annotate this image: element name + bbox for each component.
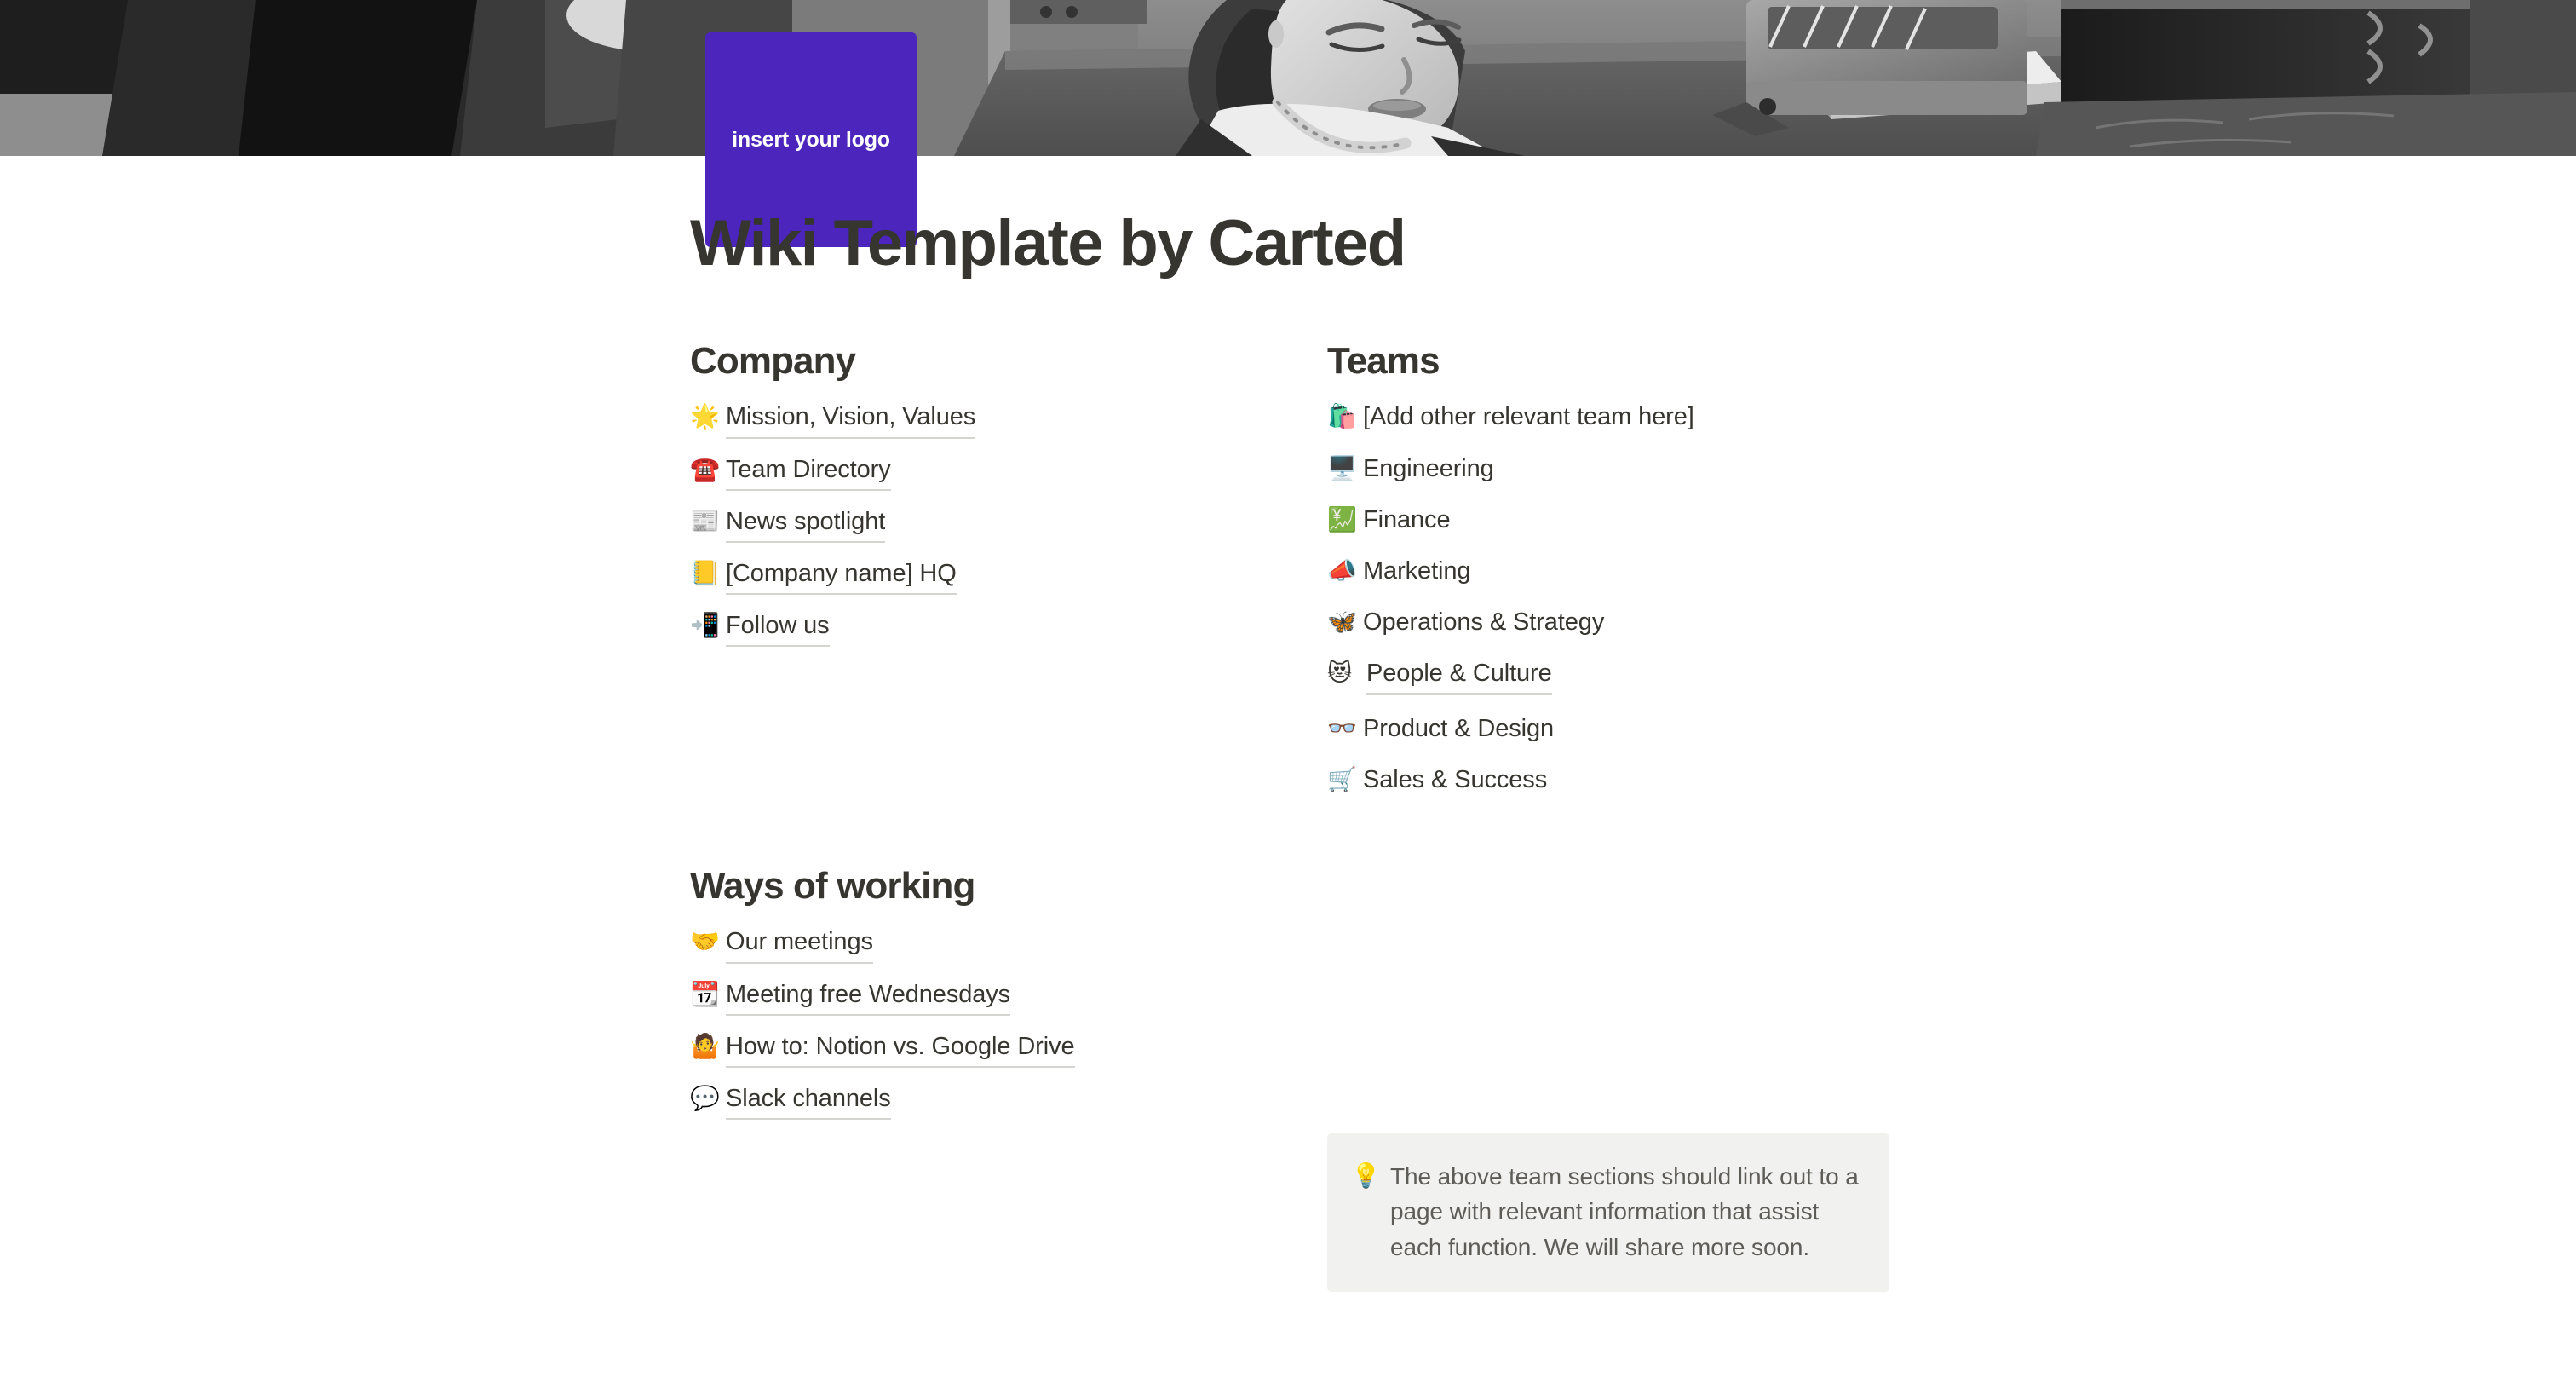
teams-item-engineering[interactable]: Engineering [1363,452,1494,486]
mobile-phone-with-arrow-icon: 📲 [690,611,726,640]
list-item[interactable]: ☎️ Team Directory [690,453,1286,491]
company-link-team-directory[interactable]: Team Directory [726,453,891,491]
teams-item-add-other-team[interactable]: [Add other relevant team here] [1363,401,1694,434]
company-link-list: 🌟 Mission, Vision, Values ☎️ Team Direct… [690,401,1286,647]
person-shrugging-icon: 🤷 [690,1032,726,1061]
glowing-star-icon: 🌟 [690,402,726,431]
page-title: Wiki Template by Carted [690,210,1406,278]
ways-of-working-link-list: 🤝 Our meetings 📆 Meeting free Wednesdays… [690,925,1286,1120]
logo-placeholder-text: insert your logo [732,128,890,153]
list-item[interactable]: 💹 Finance [1327,504,1923,537]
desktop-computer-icon: 🖥️ [1327,454,1363,483]
megaphone-icon: 📣 [1327,556,1363,585]
list-item[interactable]: 🛍️ [Add other relevant team here] [1327,401,1923,434]
list-item[interactable]: 🛒 Sales & Success [1327,764,1923,797]
wow-link-our-meetings[interactable]: Our meetings [726,925,873,963]
teams-item-finance[interactable]: Finance [1363,504,1450,537]
teams-item-operations-strategy[interactable]: Operations & Strategy [1363,606,1604,639]
list-item[interactable]: 👓 Product & Design [1327,712,1923,746]
list-item[interactable]: 🦋 Operations & Strategy [1327,606,1923,639]
list-item[interactable]: 📲 Follow us [690,609,1286,647]
tear-off-calendar-icon: 📆 [690,980,726,1009]
company-column: Company 🌟 Mission, Vision, Values ☎️ Tea… [690,341,1286,661]
list-item[interactable]: 🌟 Mission, Vision, Values [690,401,1286,438]
teams-item-people-culture[interactable]: People & Culture [1366,657,1552,694]
company-link-company-hq[interactable]: [Company name] HQ [726,557,957,595]
telephone-icon: ☎️ [690,455,726,484]
newspaper-icon: 📰 [690,507,726,536]
shopping-bags-icon: 🛍️ [1327,402,1363,431]
company-link-mission-vision-values[interactable]: Mission, Vision, Values [726,401,975,438]
company-heading: Company [690,341,1286,382]
ways-of-working-column: Ways of working 🤝 Our meetings 📆 Meeting… [690,866,1286,1134]
list-item[interactable]: 📣 Marketing [1327,555,1923,588]
chart-with-yen-icon: 💹 [1327,505,1363,534]
smiling-cat-heart-eyes-icon: 😻 [1327,659,1366,688]
list-item[interactable]: 🤷 How to: Notion vs. Google Drive [690,1030,1286,1068]
list-item[interactable]: 📒 [Company name] HQ [690,557,1286,595]
butterfly-icon: 🦋 [1327,608,1363,637]
callout-text: The above team sections should link out … [1390,1159,1860,1265]
list-item[interactable]: 💬 Slack channels [690,1082,1286,1120]
ways-of-working-heading: Ways of working [690,866,1286,907]
cover-illustration [0,0,2576,156]
speech-balloon-icon: 💬 [690,1084,726,1113]
page-cover-image [0,0,2576,156]
wow-link-notion-vs-google-drive[interactable]: How to: Notion vs. Google Drive [726,1030,1075,1068]
ledger-icon: 📒 [690,559,726,588]
teams-item-product-design[interactable]: Product & Design [1363,712,1554,746]
teams-item-marketing[interactable]: Marketing [1363,555,1470,588]
handshake-icon: 🤝 [690,927,726,956]
company-link-follow-us[interactable]: Follow us [726,609,830,647]
list-item[interactable]: 🖥️ Engineering [1327,452,1923,486]
shopping-cart-icon: 🛒 [1327,765,1363,794]
list-item[interactable]: 🤝 Our meetings [690,925,1286,963]
eyeglasses-icon: 👓 [1327,714,1363,743]
teams-heading: Teams [1327,341,1923,382]
info-callout: 💡 The above team sections should link ou… [1327,1133,1889,1292]
wow-link-slack-channels[interactable]: Slack channels [726,1082,891,1120]
light-bulb-icon: 💡 [1351,1159,1390,1194]
company-link-news-spotlight[interactable]: News spotlight [726,505,885,543]
wow-link-meeting-free-wednesdays[interactable]: Meeting free Wednesdays [726,978,1010,1016]
list-item[interactable]: 📰 News spotlight [690,505,1286,543]
teams-column: Teams 🛍️ [Add other relevant team here] … [1327,341,1923,816]
teams-link-list: 🛍️ [Add other relevant team here] 🖥️ Eng… [1327,401,1923,797]
teams-item-sales-success[interactable]: Sales & Success [1363,764,1547,797]
list-item[interactable]: 😻 People & Culture [1327,657,1923,694]
list-item[interactable]: 📆 Meeting free Wednesdays [690,978,1286,1016]
